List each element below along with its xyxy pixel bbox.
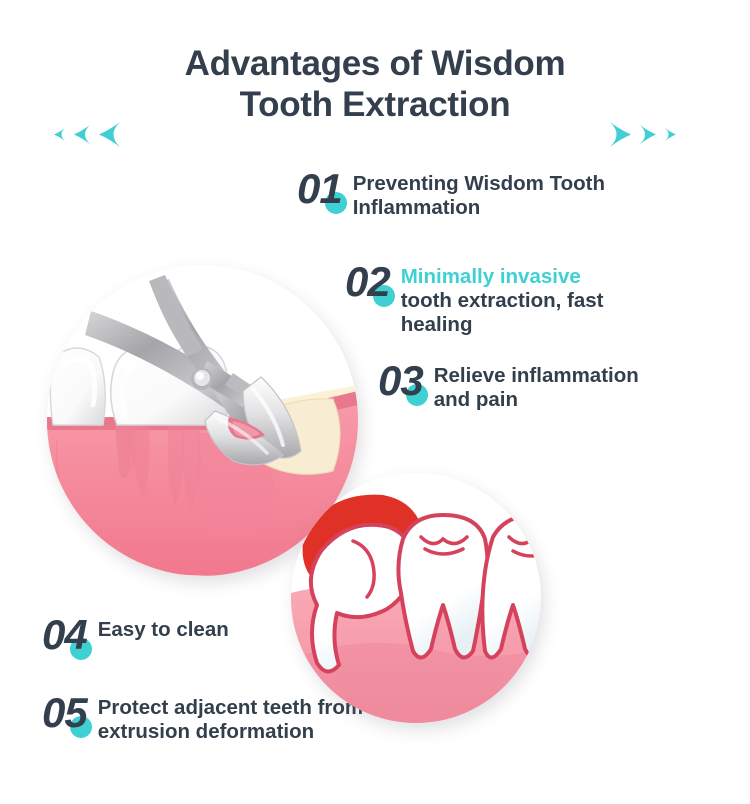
- item-highlight: Minimally invasive: [401, 265, 581, 288]
- item-text: Minimally invasivetooth extraction, fast…: [401, 261, 604, 338]
- dart-right-medium-icon: [640, 125, 656, 144]
- item-number: 04: [42, 611, 87, 658]
- item-text-rest: tooth extraction, fast healing: [401, 289, 604, 336]
- infographic-canvas: Advantages of Wisdom Tooth Extraction: [0, 0, 750, 804]
- number-badge-04: 04: [42, 614, 87, 656]
- right-arrow-decoration: [610, 122, 676, 146]
- item-number: 02: [345, 258, 390, 305]
- item-text: Relieve inflammation and pain: [434, 360, 639, 412]
- list-item-01: 01 Preventing Wisdom Tooth Inflammation: [297, 168, 605, 220]
- item-text: Protect adjacent teeth from extrusion de…: [98, 692, 363, 744]
- item-text: Preventing Wisdom Tooth Inflammation: [353, 168, 605, 220]
- dart-left-small-icon: [54, 128, 65, 141]
- item-number: 03: [378, 357, 423, 404]
- list-item-05: 05 Protect adjacent teeth from extrusion…: [42, 692, 363, 744]
- number-badge-02: 02: [345, 261, 390, 303]
- dart-left-large-icon: [99, 122, 120, 147]
- number-badge-05: 05: [42, 692, 87, 734]
- dart-right-large-icon: [610, 122, 631, 147]
- list-item-02: 02 Minimally invasivetooth extraction, f…: [345, 261, 603, 338]
- item-number: 01: [297, 165, 342, 212]
- item-text: Easy to clean: [98, 614, 229, 642]
- list-item-03: 03 Relieve inflammation and pain: [378, 360, 639, 412]
- number-badge-01: 01: [297, 168, 342, 210]
- dart-left-medium-icon: [74, 125, 90, 144]
- inflammation-illustration: [291, 473, 541, 723]
- dart-right-small-icon: [665, 128, 676, 141]
- list-item-04: 04 Easy to clean: [42, 614, 229, 656]
- item-number: 05: [42, 689, 87, 736]
- header: Advantages of Wisdom Tooth Extraction: [0, 44, 750, 134]
- page-title: Advantages of Wisdom Tooth Extraction: [125, 44, 625, 125]
- number-badge-03: 03: [378, 360, 423, 402]
- left-arrow-decoration: [54, 122, 120, 146]
